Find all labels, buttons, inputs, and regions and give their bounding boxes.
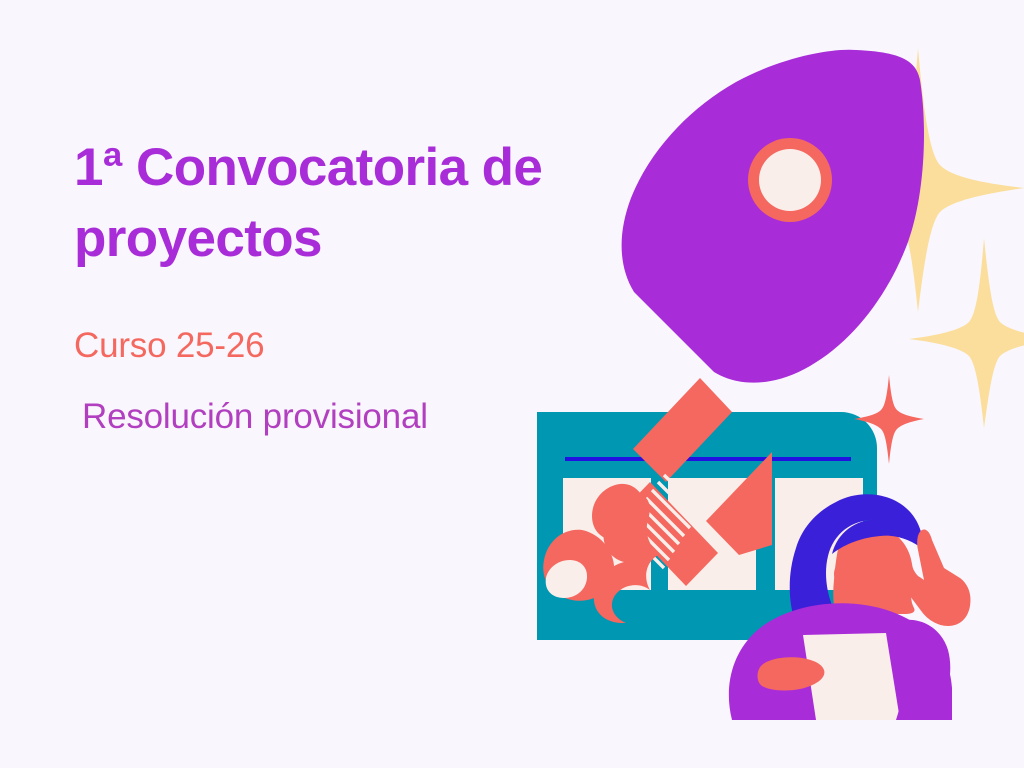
course-label: Curso 25-26	[74, 326, 264, 366]
rocket-launch-illustration	[500, 20, 1024, 740]
sparkle-star-small	[909, 238, 1024, 428]
browser-divider-line	[565, 457, 851, 461]
resolution-status-label: Resolución provisional	[82, 397, 428, 437]
rocket-porthole	[759, 149, 821, 211]
slide-canvas: 1ª Convocatoria de proyectos Curso 25-26…	[0, 0, 1024, 768]
